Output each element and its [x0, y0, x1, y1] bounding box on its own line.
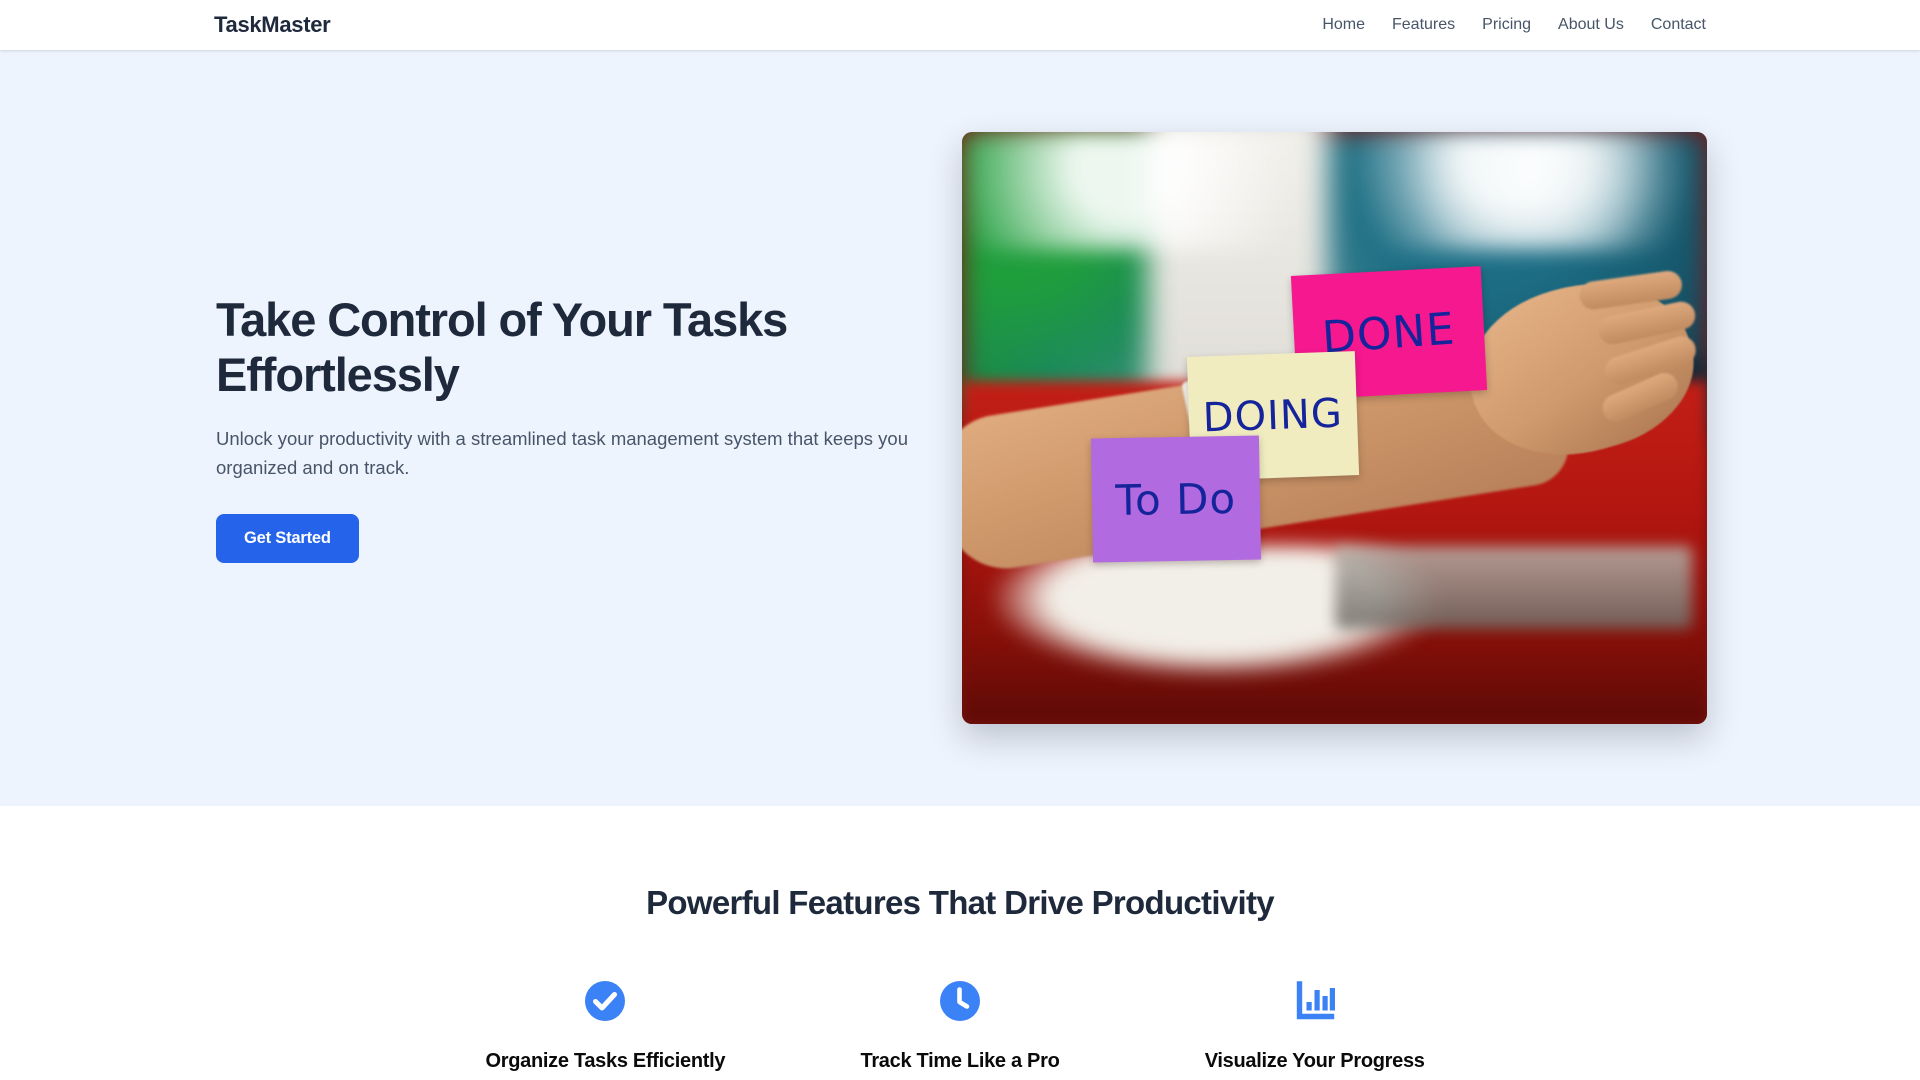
feature-grid: Organize Tasks Efficiently Easily catego… — [214, 979, 1706, 1080]
sticky-note-doing-text: DOING — [1202, 391, 1344, 442]
hero-section: Take Control of Your Tasks Effortlessly … — [0, 50, 1920, 806]
sticky-note-todo: To Do — [1091, 435, 1261, 562]
nav-link-contact[interactable]: Contact — [1651, 16, 1706, 34]
bar-chart-icon — [1293, 979, 1337, 1023]
feature-title: Track Time Like a Pro — [801, 1050, 1120, 1073]
sticky-note-todo-text: To Do — [1115, 473, 1236, 524]
clock-icon — [938, 979, 982, 1023]
get-started-button[interactable]: Get Started — [216, 514, 359, 563]
page-title: Take Control of Your Tasks Effortlessly — [216, 293, 928, 403]
check-circle-icon — [583, 979, 627, 1023]
nav-link-home[interactable]: Home — [1322, 16, 1365, 34]
top-navbar: TaskMaster Home Features Pricing About U… — [0, 0, 1920, 50]
feature-card-visualize: Visualize Your Progress Gain insights in… — [1137, 979, 1492, 1080]
features-section: Powerful Features That Drive Productivit… — [0, 806, 1920, 1080]
nav-link-features[interactable]: Features — [1392, 16, 1455, 34]
hero-subtitle: Unlock your productivity with a streamli… — [216, 425, 928, 482]
nav-link-pricing[interactable]: Pricing — [1482, 16, 1531, 34]
feature-card-organize: Organize Tasks Efficiently Easily catego… — [428, 979, 783, 1080]
feature-title: Visualize Your Progress — [1155, 1050, 1474, 1073]
nav-link-about-us[interactable]: About Us — [1558, 16, 1624, 34]
features-heading: Powerful Features That Drive Productivit… — [0, 884, 1920, 922]
hero-image: DONE DOING To Do — [962, 132, 1707, 724]
brand-logo[interactable]: TaskMaster — [214, 12, 330, 38]
feature-title: Organize Tasks Efficiently — [446, 1050, 765, 1073]
feature-card-track-time: Track Time Like a Pro Monitor how much t… — [783, 979, 1138, 1080]
hero-copy: Take Control of Your Tasks Effortlessly … — [216, 293, 928, 562]
hero-image-wrap: DONE DOING To Do — [962, 132, 1707, 724]
nav-links: Home Features Pricing About Us Contact — [1322, 16, 1706, 34]
